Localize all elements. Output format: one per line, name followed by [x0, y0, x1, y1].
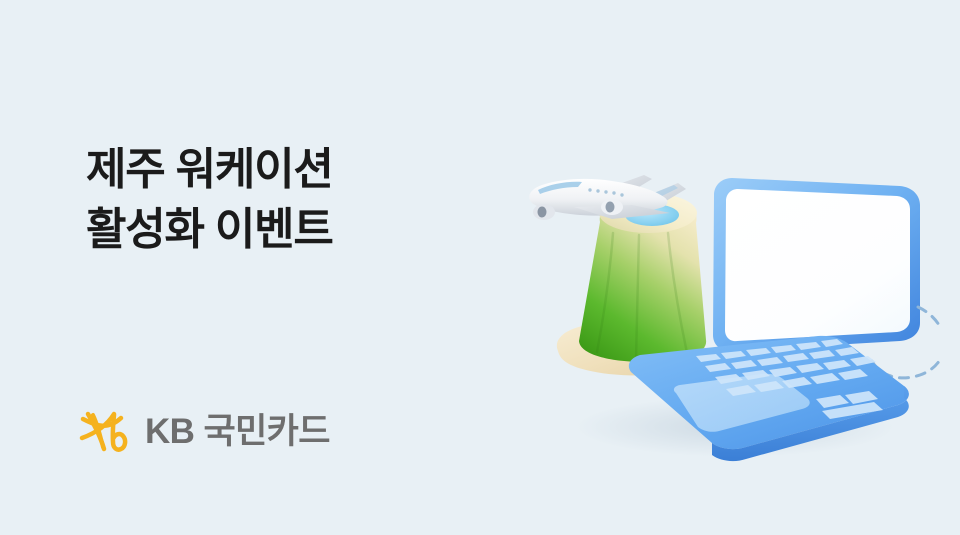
laptop-screen: [725, 189, 910, 341]
airplane: [529, 175, 686, 220]
headline-block: 제주 워케이션 활성화 이벤트: [86, 140, 486, 260]
promo-banner: 제주 워케이션 활성화 이벤트 KB 국민카드: [0, 0, 960, 535]
kb-star-logo-icon: [78, 405, 132, 457]
page-title: 제주 워케이션 활성화 이벤트: [86, 140, 486, 260]
brand-name: KB 국민카드: [145, 414, 330, 449]
jeju-workation-illustration: [500, 155, 940, 485]
brand-lockup: KB 국민카드: [78, 405, 330, 457]
